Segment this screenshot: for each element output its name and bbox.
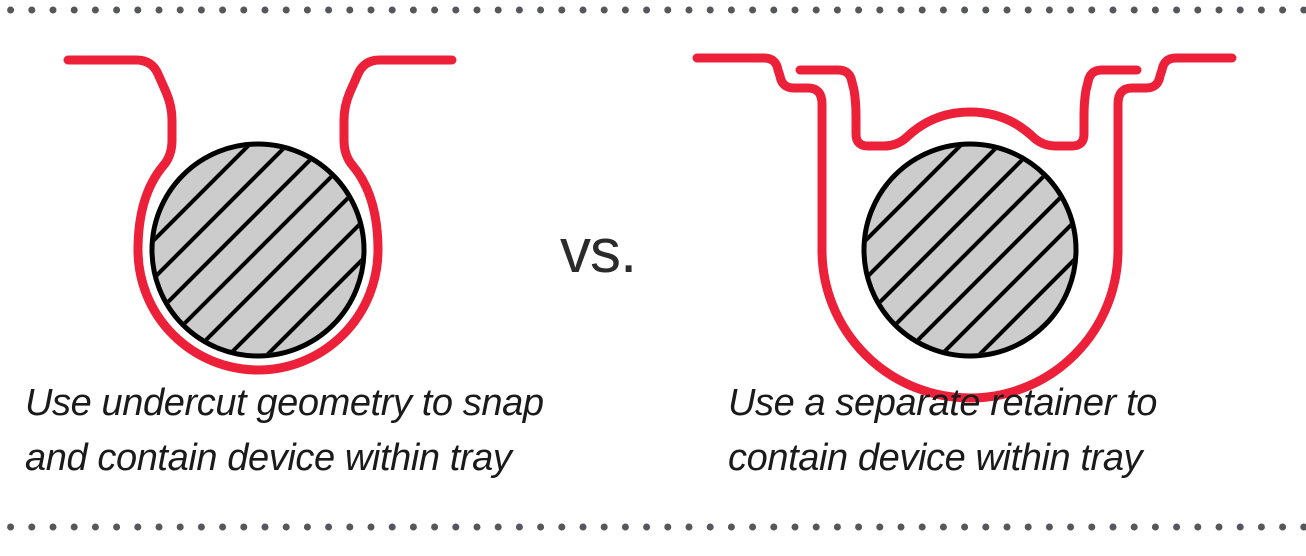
versus-label: vs. — [560, 217, 636, 286]
bottom-rule-dot — [770, 524, 777, 531]
top-rule-dot — [283, 7, 290, 14]
top-rule-dot — [919, 7, 926, 14]
top-rule-dot — [1216, 7, 1223, 14]
top-rule-dot — [262, 7, 269, 14]
bottom-rule-dot — [1046, 524, 1053, 531]
top-rule-dot — [601, 7, 608, 14]
top-rule-dot — [240, 7, 247, 14]
bottom-rule-dot — [558, 524, 565, 531]
bottom-rule-dot — [728, 524, 735, 531]
top-rule-dot — [686, 7, 693, 14]
bottom-rule-dot — [71, 524, 78, 531]
bottom-rule-dot — [537, 524, 544, 531]
top-rule-dot — [834, 7, 841, 14]
top-rule-dot — [156, 7, 163, 14]
bottom-rule-dot — [28, 524, 35, 531]
top-rule-dot — [898, 7, 905, 14]
caption-right-line-2: contain device within tray — [728, 437, 1145, 479]
bottom-rule-dot — [198, 524, 205, 531]
top-rule-dot — [622, 7, 629, 14]
top-rule-dot — [1258, 7, 1265, 14]
bottom-rule-dot — [686, 524, 693, 531]
top-rule-dot — [1004, 7, 1011, 14]
bottom-rule-dot — [368, 524, 375, 531]
top-rule-dot — [304, 7, 311, 14]
hatch-line — [800, 80, 1139, 419]
bottom-rule-dot — [1004, 524, 1011, 531]
top-rule-dot — [813, 7, 820, 14]
bottom-rule-dot — [1152, 524, 1159, 531]
top-rule-dot — [1046, 7, 1053, 14]
bottom-rule-dot — [240, 524, 247, 531]
bottom-rule-dot — [898, 524, 905, 531]
bottom-rule-dot — [940, 524, 947, 531]
top-rule-dot — [1025, 7, 1032, 14]
bottom-rule-dot — [452, 524, 459, 531]
bottom-rule-dot — [474, 524, 481, 531]
bottom-rule-dot — [156, 524, 163, 531]
technical-diagram: vs. Use undercut geometry to snap and co… — [0, 0, 1306, 556]
bottom-dotted-rule — [7, 524, 1306, 531]
bottom-rule-dot — [1216, 524, 1223, 531]
caption-left-line-1: Use undercut geometry to snap — [25, 382, 544, 424]
bottom-rule-dot — [262, 524, 269, 531]
bottom-rule-dot — [177, 524, 184, 531]
bottom-rule-dot — [410, 524, 417, 531]
top-rule-dot — [177, 7, 184, 14]
bottom-rule-dot — [431, 524, 438, 531]
top-rule-dot — [389, 7, 396, 14]
top-rule-dot — [325, 7, 332, 14]
bottom-rule-dot — [834, 524, 841, 531]
top-rule-dot — [113, 7, 120, 14]
top-rule-dot — [1131, 7, 1138, 14]
top-rule-dot — [580, 7, 587, 14]
top-rule-dot — [1152, 7, 1159, 14]
bottom-rule-dot — [1300, 524, 1306, 531]
bottom-rule-dot — [855, 524, 862, 531]
bottom-rule-dot — [325, 524, 332, 531]
bottom-rule-dot — [707, 524, 714, 531]
top-rule-dot — [1173, 7, 1180, 14]
top-rule-dot — [728, 7, 735, 14]
top-rule-dot — [537, 7, 544, 14]
bottom-rule-dot — [1088, 524, 1095, 531]
bottom-rule-dot — [495, 524, 502, 531]
bottom-rule-dot — [813, 524, 820, 531]
top-rule-dot — [474, 7, 481, 14]
separate-retainer — [800, 70, 1137, 146]
top-rule-dot — [28, 7, 35, 14]
bottom-rule-dot — [643, 524, 650, 531]
bottom-rule-dot — [113, 524, 120, 531]
top-rule-dot — [707, 7, 714, 14]
top-rule-dot — [219, 7, 226, 14]
top-rule-dot — [558, 7, 565, 14]
top-rule-dot — [1067, 7, 1074, 14]
top-rule-dot — [770, 7, 777, 14]
bottom-rule-dot — [1131, 524, 1138, 531]
bottom-rule-dot — [664, 524, 671, 531]
top-rule-dot — [1300, 7, 1306, 14]
top-rule-dot — [92, 7, 99, 14]
top-rule-dot — [1088, 7, 1095, 14]
bottom-rule-dot — [982, 524, 989, 531]
top-rule-dot — [368, 7, 375, 14]
bottom-rule-dot — [961, 524, 968, 531]
bottom-rule-dot — [919, 524, 926, 531]
top-rule-dot — [431, 7, 438, 14]
bottom-rule-dot — [1110, 524, 1117, 531]
bottom-rule-dot — [304, 524, 311, 531]
top-rule-dot — [452, 7, 459, 14]
bottom-rule-dot — [134, 524, 141, 531]
bottom-rule-dot — [50, 524, 57, 531]
bottom-rule-dot — [1279, 524, 1286, 531]
top-rule-dot — [643, 7, 650, 14]
bottom-rule-dot — [622, 524, 629, 531]
top-rule-dot — [1110, 7, 1117, 14]
caption-left-line-2: and contain device within tray — [25, 437, 514, 479]
top-rule-dot — [876, 7, 883, 14]
bottom-rule-dot — [516, 524, 523, 531]
bottom-rule-dot — [1067, 524, 1074, 531]
top-rule-dot — [7, 7, 14, 14]
bottom-rule-dot — [601, 524, 608, 531]
top-rule-dot — [792, 7, 799, 14]
bottom-rule-dot — [876, 524, 883, 531]
top-rule-dot — [664, 7, 671, 14]
top-rule-dot — [198, 7, 205, 14]
top-rule-dot — [346, 7, 353, 14]
bottom-rule-dot — [1258, 524, 1265, 531]
bottom-rule-dot — [1025, 524, 1032, 531]
caption-right-line-1: Use a separate retainer to — [728, 382, 1157, 424]
top-rule-dot — [71, 7, 78, 14]
bottom-rule-dot — [1173, 524, 1180, 531]
top-rule-dot — [516, 7, 523, 14]
top-rule-dot — [410, 7, 417, 14]
bottom-rule-dot — [346, 524, 353, 531]
bottom-rule-dot — [219, 524, 226, 531]
bottom-rule-dot — [749, 524, 756, 531]
bottom-rule-dot — [792, 524, 799, 531]
bottom-rule-dot — [1194, 524, 1201, 531]
top-rule-dot — [495, 7, 502, 14]
top-rule-dot — [749, 7, 756, 14]
top-rule-dot — [1237, 7, 1244, 14]
top-rule-dot — [50, 7, 57, 14]
bottom-rule-dot — [389, 524, 396, 531]
top-rule-dot — [134, 7, 141, 14]
top-rule-dot — [961, 7, 968, 14]
top-rule-dot — [855, 7, 862, 14]
top-rule-dot — [1279, 7, 1286, 14]
figure-root: vs. Use undercut geometry to snap and co… — [0, 0, 1306, 556]
top-rule-dot — [1194, 7, 1201, 14]
top-rule-dot — [982, 7, 989, 14]
top-dotted-rule — [7, 7, 1306, 14]
bottom-rule-dot — [1237, 524, 1244, 531]
bottom-rule-dot — [7, 524, 14, 531]
bottom-rule-dot — [283, 524, 290, 531]
bottom-rule-dot — [580, 524, 587, 531]
bottom-rule-dot — [92, 524, 99, 531]
top-rule-dot — [940, 7, 947, 14]
